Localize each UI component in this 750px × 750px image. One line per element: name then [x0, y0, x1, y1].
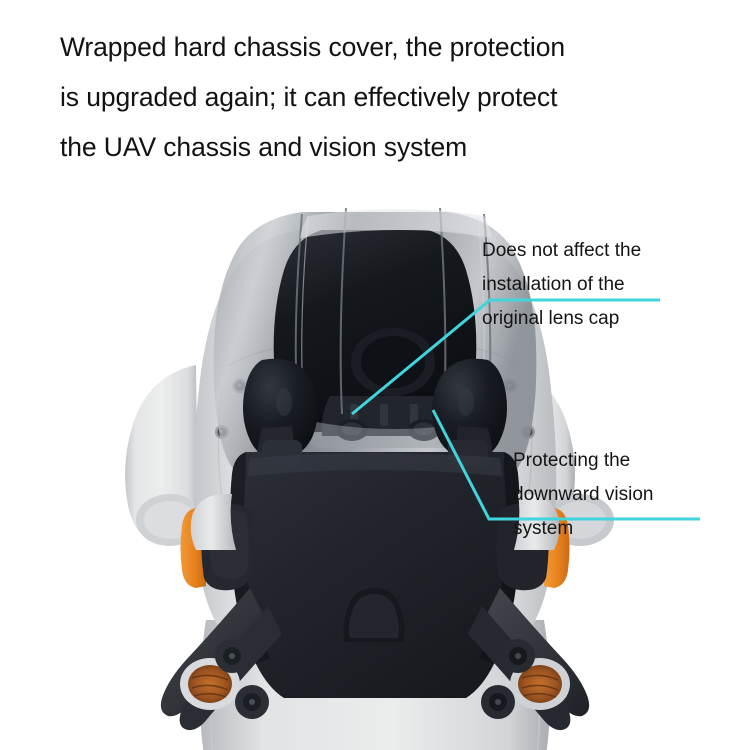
callout-lens-cap-line-3: original lens cap	[482, 302, 641, 336]
callout-downward-vision-line-2: downward vision	[513, 478, 653, 512]
callout-downward-vision: Protecting the downward vision system	[513, 444, 653, 546]
hard-chassis-cover	[230, 440, 520, 698]
headline-text-block: Wrapped hard chassis cover, the protecti…	[60, 22, 730, 172]
callout-lens-cap-line-1: Does not affect the	[482, 234, 641, 268]
headline-line-3: the UAV chassis and vision system	[60, 122, 730, 172]
headline-line-2: is upgraded again; it can effectively pr…	[60, 72, 730, 122]
callout-lens-cap: Does not affect the installation of the …	[482, 234, 641, 336]
callout-downward-vision-line-1: Protecting the	[513, 444, 653, 478]
callout-lens-cap-line-2: installation of the	[482, 268, 641, 302]
callout-downward-vision-line-3: system	[513, 512, 653, 546]
headline-line-1: Wrapped hard chassis cover, the protecti…	[60, 22, 730, 72]
